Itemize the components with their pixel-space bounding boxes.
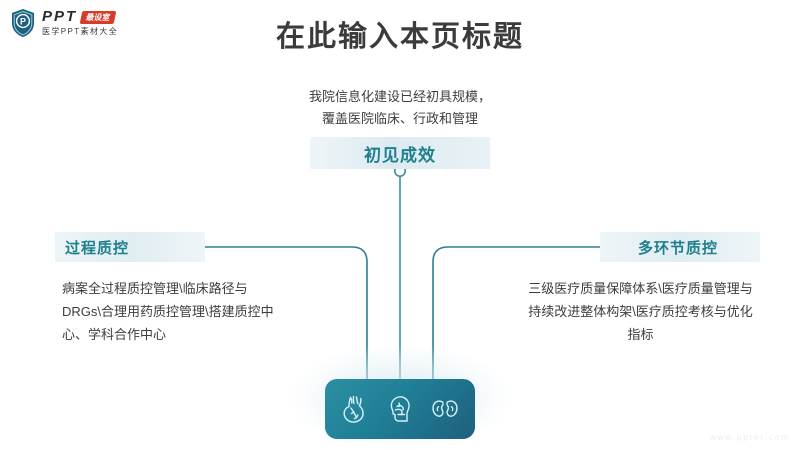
icon-box[interactable] <box>325 379 475 439</box>
page-title: 在此输入本页标题 <box>0 18 800 56</box>
slide-canvas: P PPT 最设室 医学PPT素材大全 在此输入本页标题 我院信息化建设已经初具… <box>0 0 800 450</box>
branch-label-left-text: 过程质控 <box>65 237 129 258</box>
branch-body-left: 病案全过程质控管理\临床路径与DRGs\合理用药质控管理\搭建质控中心、学科合作… <box>62 277 284 346</box>
center-badge-label: 初见成效 <box>364 141 436 166</box>
intro-text: 我院信息化建设已经初具规模， 覆盖医院临床、行政和管理 <box>250 86 550 130</box>
center-badge[interactable]: 初见成效 <box>310 137 490 169</box>
heart-icon <box>340 392 370 426</box>
intro-line-1: 我院信息化建设已经初具规模， <box>250 86 550 108</box>
intro-line-2: 覆盖医院临床、行政和管理 <box>250 108 550 130</box>
branch-label-right[interactable]: 多环节质控 <box>600 232 760 262</box>
kidneys-icon <box>430 392 460 426</box>
branch-label-left[interactable]: 过程质控 <box>55 232 205 262</box>
branch-body-right: 三级医疗质量保障体系\医疗质量管理与持续改进整体构架\医疗质控考核与优化指标 <box>528 277 753 346</box>
head-brain-icon <box>385 392 415 426</box>
branch-label-right-text: 多环节质控 <box>638 237 718 258</box>
watermark: www.ppter.com <box>710 433 790 442</box>
